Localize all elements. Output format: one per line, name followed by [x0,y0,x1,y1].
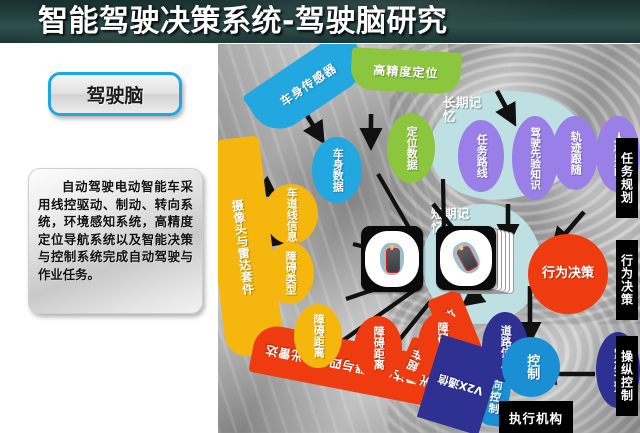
node-control-label: 控制 [525,354,538,380]
vehicle-head-glyph [390,245,393,250]
description-text: 自动驾驶电动智能车采用线控驱动、制动、转向系统，环境感知系统，高精度定位导航系统… [38,178,193,283]
arc-high-precision-positioning: 高精度定位 [350,47,462,95]
node-positioning-data-label: 定位数据 [405,126,418,170]
side-label-task-planning: 任务规划 [616,138,638,218]
vehicle-glyph [448,239,483,278]
node-control[interactable]: 控制 [502,337,560,397]
node-driving-prior-knowledge[interactable]: 驾驶先验知识 [512,116,558,200]
vehicle-icon-stack [436,226,518,298]
side-label-manipulation-control-text: 操纵控制 [619,350,636,402]
side-label-task-planning-text: 任务规划 [619,152,636,204]
node-positioning-data[interactable]: 定位数据 [387,113,435,183]
node-obstacle-distance-red-label: 障碍距离 [372,326,385,370]
title-banner: 智能驾驶决策系统-驾驶脑研究 [0,0,640,43]
vehicle-icon-single [361,226,423,292]
driving-brain-button-label: 驾驶脑 [86,81,143,108]
vehicle-icon-stack-top [436,226,496,290]
screenshot-root: 智能驾驶决策系统-驾驶脑研究 驾驶脑 自动驾驶电动智能车采用线控驱动、制动、转向… [0,0,640,433]
arc-high-precision-positioning-label: 高精度定位 [373,61,439,81]
node-lane-label: 车道线信息 [285,187,298,242]
side-label-manipulation-control: 操纵控制 [616,336,638,416]
node-trajectory-following-label: 轨迹跟随 [569,131,582,175]
node-task-route-label: 任务路线 [475,134,488,178]
node-driving-prior-knowledge-label: 驾驶先验知识 [529,127,542,190]
box-actuator-label: 执行机构 [509,411,563,426]
page-title: 智能驾驶决策系统-驾驶脑研究 [38,2,447,42]
node-obstacle-type-label: 障碍类型 [284,251,297,295]
node-vehicle-data-label: 车身数据 [331,148,344,192]
node-obstacle-distance-red[interactable]: 障碍距离 [354,316,402,380]
node-task-route[interactable]: 任务路线 [458,120,504,192]
side-label-behavior-decision: 行为决策 [616,240,638,320]
node-obstacle-distance-orange[interactable]: 障碍距离 [294,304,342,368]
node-behavior-decision-label: 行为决策 [542,268,594,281]
side-label-behavior-decision-text: 行为决策 [619,254,636,306]
vehicle-icon-single-inner [365,231,418,288]
node-obstacle-type[interactable]: 障碍类型 [266,242,314,304]
node-behavior-decision[interactable]: 行为决策 [528,234,608,314]
node-vehicle-data[interactable]: 车身数据 [312,137,362,203]
description-panel: 自动驾驶电动智能车采用线控驱动、制动、转向系统，环境感知系统，高精度定位导航系统… [28,168,203,314]
box-actuator[interactable]: 执行机构 [499,401,573,433]
arc-camera-radar-kit-label: 摄像头与雷达套件 [229,198,258,295]
node-obstacle-distance-orange-label: 障碍距离 [312,314,325,358]
vehicle-head-glyph [458,245,463,251]
node-lane[interactable]: 车道线信息 [264,184,318,244]
vehicle-icon-stack-inner [440,230,492,285]
driving-brain-button[interactable]: 驾驶脑 [48,72,182,116]
node-trajectory-following[interactable]: 轨迹跟随 [552,116,598,190]
box-v2x-communication-label: V2X通信 [435,371,484,400]
diagram-image: 长期记忆 短期记忆 [218,44,640,433]
vehicle-glyph [380,243,403,276]
